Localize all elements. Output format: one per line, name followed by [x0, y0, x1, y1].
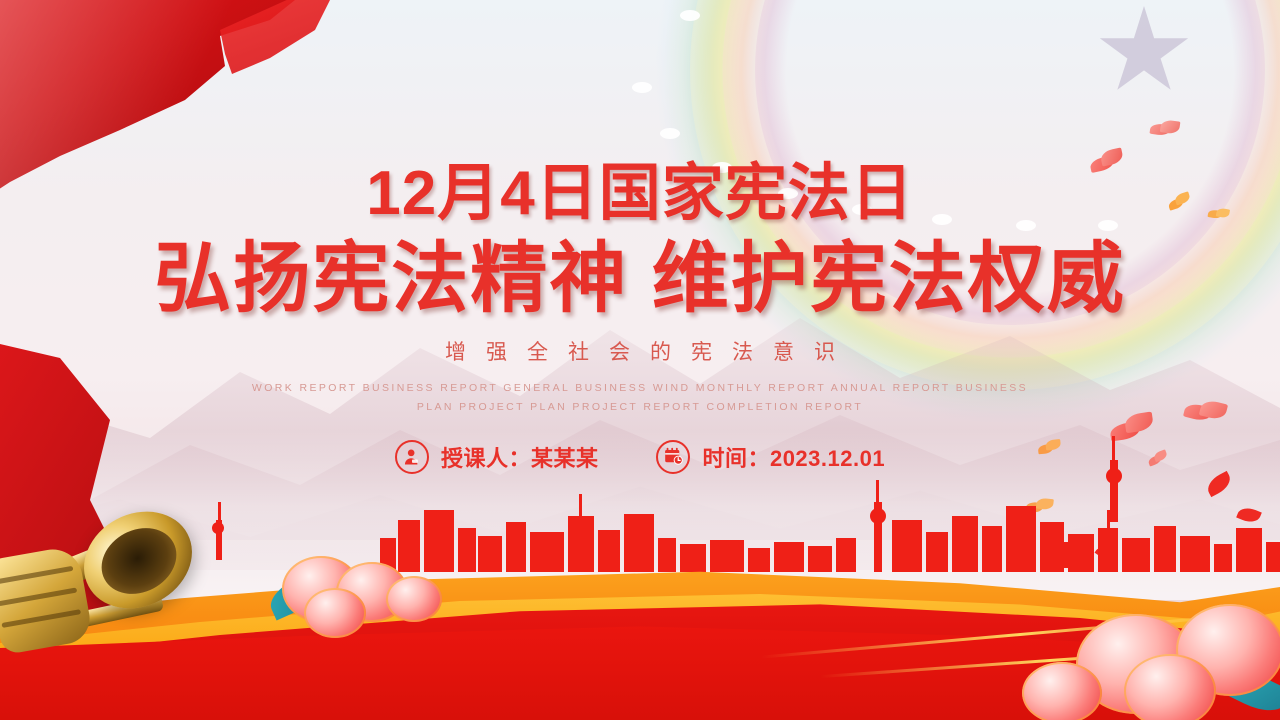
peony-flower: [386, 576, 442, 622]
city-skyline-silhouette: [380, 472, 1280, 572]
building: [624, 514, 654, 572]
building: [952, 516, 978, 572]
english-subtitle-line-1: WORK REPORT BUSINESS REPORT GENERAL BUSI…: [0, 379, 1280, 398]
building: [1180, 536, 1210, 572]
english-subtitle-line-2: PLAN PROJECT PLAN PROJECT REPORT COMPLET…: [0, 398, 1280, 417]
building: [598, 530, 620, 572]
building: [680, 544, 706, 572]
building: [1012, 538, 1036, 568]
building: [530, 532, 564, 572]
presenter-label: 授课人：某某某: [441, 441, 599, 473]
date-heading: 12月4日国家宪法日: [0, 163, 1280, 225]
building: [1060, 542, 1088, 568]
sub-title: 增强全社会的宪法意识: [0, 336, 1280, 366]
date-label: 时间：2023.12.01: [702, 441, 885, 473]
peony-flower: [304, 588, 366, 638]
building: [658, 538, 676, 572]
building: [892, 520, 922, 572]
peony-flower: [1022, 662, 1102, 720]
english-subtitle: WORK REPORT BUSINESS REPORT GENERAL BUSI…: [0, 379, 1280, 418]
presenter-info: 授课人：某某某: [395, 440, 599, 474]
person-icon: [395, 440, 429, 474]
building: [926, 532, 948, 572]
building: [1266, 542, 1280, 572]
tv-tower-spire: [876, 480, 879, 572]
calendar-clock-icon: [656, 440, 690, 474]
building: [1236, 528, 1262, 572]
building-spire: [579, 494, 582, 572]
slide-text-content: 12月4日国家宪法日 弘扬宪法精神 维护宪法权威 增强全社会的宪法意识 WORK…: [0, 0, 1280, 474]
building: [458, 528, 476, 572]
peony-flower: [1124, 654, 1216, 720]
building: [808, 546, 832, 572]
date-info: 时间：2023.12.01: [656, 440, 885, 474]
building: [424, 510, 454, 572]
building: [982, 526, 1002, 572]
building: [1042, 546, 1060, 568]
building: [1154, 526, 1176, 572]
building: [1122, 538, 1150, 572]
page-title: 弘扬宪法精神 维护宪法权威: [0, 239, 1280, 320]
building: [710, 540, 744, 572]
meta-info-row: 授课人：某某某 时间：2023.12.0: [0, 440, 1280, 474]
building: [774, 542, 804, 572]
building: [1214, 544, 1232, 572]
building: [478, 536, 502, 572]
building: [748, 548, 770, 572]
building: [836, 538, 856, 572]
building: [506, 522, 526, 572]
golden-bugle: [0, 500, 260, 700]
building: [398, 520, 420, 572]
presentation-cover-slide: 12月4日国家宪法日 弘扬宪法精神 维护宪法权威 增强全社会的宪法意识 WORK…: [0, 0, 1280, 720]
